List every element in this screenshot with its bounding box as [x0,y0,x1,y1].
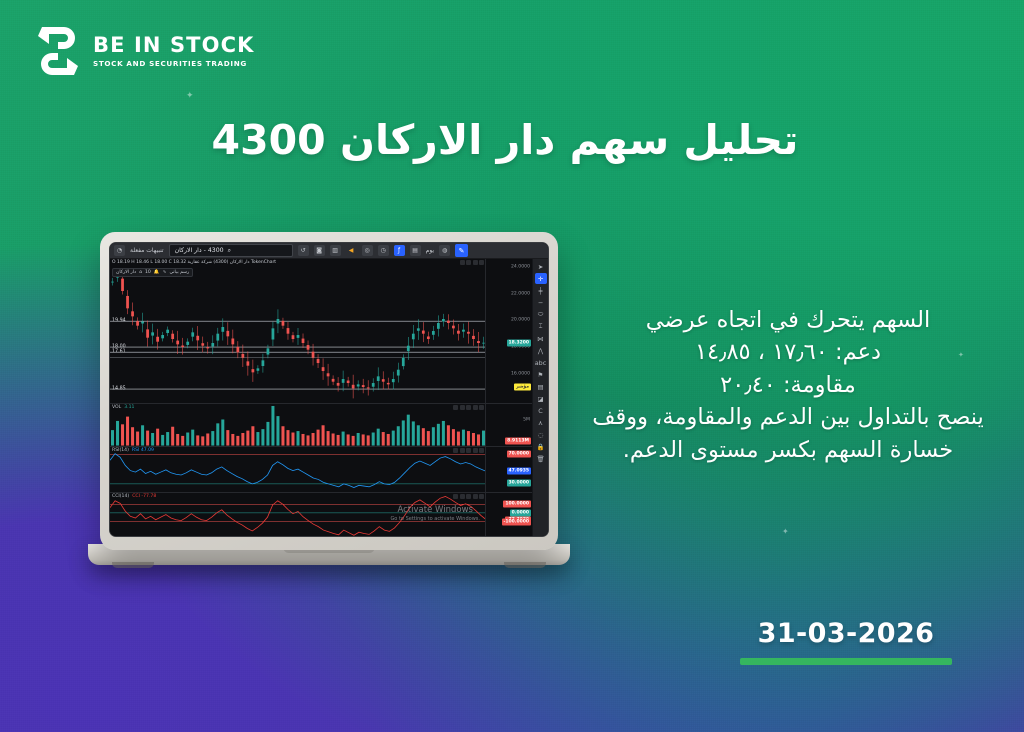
analysis-resistance-line: مقاومة: ٢٠٫٤٠ [588,369,988,401]
pane-ctrl-dot[interactable] [453,448,458,453]
logo-mark-icon [34,24,82,78]
oscillator-tag[interactable]: 47.0935 [507,467,532,474]
stay-drawing-icon[interactable]: ⋏ [535,417,547,428]
pane-ctrl-dot[interactable] [460,494,465,499]
camera-icon[interactable]: ◙ [314,245,325,256]
pane-ctrl-dot[interactable] [460,260,465,265]
watermark-title: Activate Windows [390,505,480,515]
pane-ctrl-dot[interactable] [473,260,478,265]
brand-name: BE IN STOCK [93,34,254,56]
level-label: 14.85 [112,387,126,392]
pane-ctrl-dot[interactable] [453,494,458,499]
layout-icon[interactable]: ▥ [330,245,341,256]
pane-controls[interactable] [453,494,484,499]
cart-icon[interactable]: ⌂ [139,270,142,275]
axis-label: 16.0000 [511,371,530,376]
axis-label: 24.0000 [511,265,530,270]
symbol-search-input[interactable]: ⌕ 4300 - دار الاركان [169,244,293,257]
replay-icon[interactable]: ◀ [346,245,357,256]
pane-ctrl-dot[interactable] [479,405,484,410]
palette-icon[interactable]: ▤ [535,381,547,392]
pane-ctrl-dot[interactable] [473,448,478,453]
volume-value-tag[interactable]: 8.9113M [505,437,531,444]
axis-label: 22.0000 [511,291,530,296]
laptop-foot-right [504,562,546,568]
analysis-advice-line: ينصح بالتداول بين الدعم والمقاومة، ووقف … [588,401,988,466]
chart-panes: TokenChart دار الاركان (4300) شركة عقاري… [110,259,532,536]
text-icon[interactable]: abc [535,357,547,368]
pane-ctrl-dot[interactable] [466,405,471,410]
right-tool-rail: ➤ ✛ ╪ ─ ⬭ ⌶ ⋈ ⋀ abc ⚑ ▤ ◪ C [532,259,548,536]
draw-label-right: رسم بياني [169,270,189,275]
cci-value: CCI -77.78 [132,494,156,499]
axis-label: 20.0000 [511,318,530,323]
pane-ctrl-dot[interactable] [466,448,471,453]
pencil-icon[interactable]: ✎ [455,244,468,257]
cci-title: CCI(14) [112,494,129,499]
cci-header: CCI(14) CCI -77.78 [112,494,156,499]
lock-icon[interactable]: 🔒 [535,441,547,452]
volume-plot[interactable] [110,404,486,446]
pane-controls[interactable] [453,448,484,453]
oscillator-tag[interactable]: 30.0000 [507,480,532,487]
volume-pane[interactable]: VOL 3.11 [110,404,532,447]
trading-chart-app: ✎ ◍ يوم ▤ ƒ ◷ ◎ ◀ ▥ ◙ ↺ ⌕ 4300 - دار ال [110,243,548,536]
publish-date: 31-03-2026 [740,618,952,649]
volume-title: VOL [112,405,121,410]
bell-icon[interactable]: 🔔 [154,270,160,275]
laptop-mockup: ✎ ◍ يوم ▤ ƒ ◷ ◎ ◀ ▥ ◙ ↺ ⌕ 4300 - دار ال [88,232,570,587]
brand-tagline: STOCK AND SECURITIES TRADING [93,59,254,68]
chart-type-icon[interactable]: ◪ [535,393,547,404]
search-icon: ⌕ [228,247,231,255]
rsi-axis[interactable]: 70.000047.093530.0000 [485,447,532,493]
poster-canvas: ✦ ✦ ✦ ✦ BE IN STOCK STOCK AND SECURITIES… [0,0,1024,732]
clock-icon[interactable]: ◷ [378,245,389,256]
pane-ctrl-dot[interactable] [479,260,484,265]
interval-icon[interactable]: ▤ [410,245,421,256]
chart-legend: TokenChart دار الاركان (4300) شركة عقاري… [112,260,276,265]
indicators-icon[interactable]: ƒ [394,245,405,256]
pane-controls[interactable] [453,405,484,410]
price-pane[interactable]: TokenChart دار الاركان (4300) شركة عقاري… [110,259,532,404]
indicator-wave-icon[interactable]: ∿ [163,270,167,275]
analysis-trend-line: السهم يتحرك في اتجاه عرضي [588,304,988,336]
level-label: 17.61 [112,350,126,355]
trash-icon[interactable]: 🗑 [535,453,547,464]
pane-ctrl-dot[interactable] [473,494,478,499]
symbol-value: 4300 - دار الاركان [175,247,224,254]
laptop-lid: ✎ ◍ يوم ▤ ƒ ◷ ◎ ◀ ▥ ◙ ↺ ⌕ 4300 - دار ال [100,232,558,550]
last-price-tag[interactable]: 18.3200 [507,339,532,346]
indicator-price-tag[interactable]: مؤشر [514,384,531,391]
axis-label: 5M [523,417,530,422]
brand-logo: BE IN STOCK STOCK AND SECURITIES TRADING [34,24,254,78]
pane-ctrl-dot[interactable] [453,405,458,410]
pane-ctrl-dot[interactable] [473,405,478,410]
rsi-plot[interactable] [110,447,486,493]
level-label: 19.94 [112,319,126,324]
oscillator-tag[interactable]: 70.0000 [507,450,532,457]
magnet-icon[interactable]: C [535,405,547,416]
interval-label[interactable]: يوم [426,247,434,254]
volume-header: VOL 3.11 [112,405,134,410]
chart-toolbar: ✎ ◍ يوم ▤ ƒ ◷ ◎ ◀ ▥ ◙ ↺ ⌕ 4300 - دار ال [110,243,548,259]
alerts-bell-icon[interactable]: ◔ [114,245,125,256]
undo-icon[interactable]: ↺ [298,245,309,256]
flag-icon[interactable]: ⚑ [535,369,547,380]
sparkle-icon: ✦ [782,528,789,536]
volume-bars-svg [110,404,486,446]
crosshair-icon[interactable]: ✛ [535,273,547,284]
pane-ctrl-dot[interactable] [479,448,484,453]
chart-body: TokenChart دار الاركان (4300) شركة عقاري… [110,259,548,536]
pane-ctrl-dot[interactable] [466,494,471,499]
laptop-foot-left [112,562,154,568]
analysis-support-line: دعم: ١٧٫٦٠ ، ١٤٫٨٥ [588,336,988,368]
oscillator-tag[interactable]: 100.0000 [503,501,531,508]
cci-axis[interactable]: 100.00000.0000-77.7070-100.0000 [485,493,532,537]
cursor-icon[interactable]: ➤ [535,261,547,272]
price-plot[interactable] [110,259,486,403]
analysis-text: السهم يتحرك في اتجاه عرضي دعم: ١٧٫٦٠ ، ١… [588,304,988,466]
rsi-line-svg [110,447,486,493]
ellipse-icon[interactable]: ⬭ [535,309,547,320]
draw-label-left: دار الاركان [116,270,136,275]
alert-icon[interactable]: ◎ [362,245,373,256]
hide-drawings-icon[interactable]: ◌ [535,429,547,440]
laptop-screen: ✎ ◍ يوم ▤ ƒ ◷ ◎ ◀ ▥ ◙ ↺ ⌕ 4300 - دار ال [109,242,549,537]
measure-icon[interactable]: ⌶ [535,321,547,332]
activate-windows-watermark: Activate Windows Go to Settings to activ… [390,505,480,522]
pane-ctrl-dot[interactable] [460,448,465,453]
alerts-count: 10 [145,270,151,275]
rsi-header: RSI(14) RSI 47.09 [112,448,154,453]
watermark-subtitle: Go to Settings to activate Windows. [390,516,480,522]
price-axis[interactable]: 24.000022.000020.000018.000016.000018.32… [485,259,532,403]
page-title: تحليل سهم دار الاركان 4300 [0,116,1024,164]
date-block: 31-03-2026 [740,618,952,665]
pane-ctrl-dot[interactable] [460,405,465,410]
oscillator-tag[interactable]: -100.0000 [502,518,532,525]
volume-value: 3.11 [124,405,134,410]
rsi-pane[interactable]: RSI(14) RSI 47.09 [110,447,532,494]
trendline-icon[interactable]: ╪ [535,285,547,296]
drawing-toolbar[interactable]: رسم بياني ∿ 🔔 10 ⌂ دار الاركان [112,268,193,277]
fib-icon[interactable]: ⋈ [535,333,547,344]
rsi-title: RSI(14) [112,448,129,453]
alerts-label[interactable]: تنبيهات مفعلة [130,247,164,254]
cci-pane[interactable]: CCI(14) CCI -77.78 [110,493,532,537]
pane-ctrl-dot[interactable] [479,494,484,499]
pattern-icon[interactable]: ⋀ [535,345,547,356]
pane-ctrl-dot[interactable] [466,260,471,265]
date-underline [740,658,952,665]
sparkle-icon: ✦ [186,92,194,101]
pane-controls[interactable] [460,260,485,265]
rsi-value: RSI 47.09 [132,448,154,453]
user-icon[interactable]: ◍ [439,245,450,256]
volume-axis[interactable]: 5M8.9113M [485,404,532,446]
horizontal-line-icon[interactable]: ─ [535,297,547,308]
price-candles-svg [110,259,486,403]
